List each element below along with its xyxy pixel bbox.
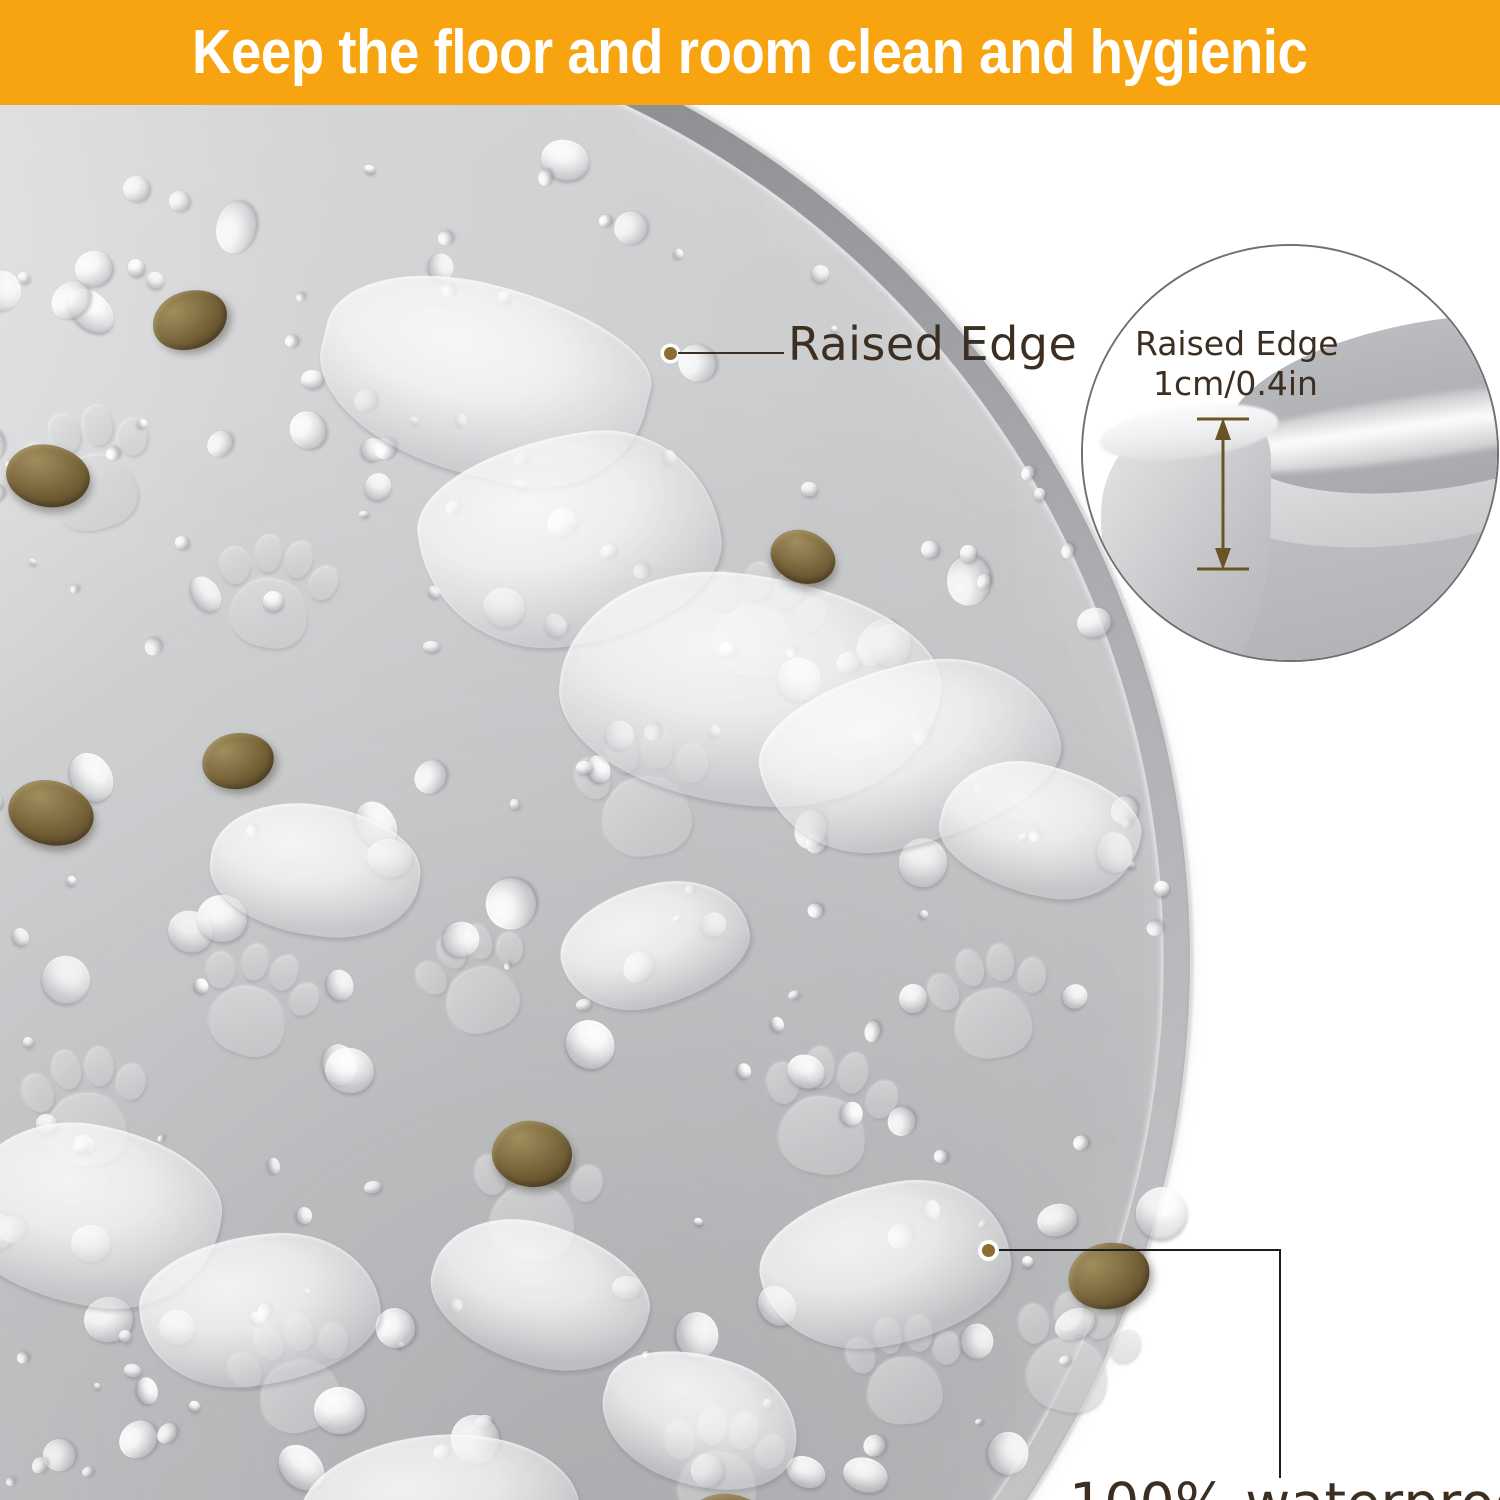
water-droplet — [1119, 816, 1133, 830]
water-droplet — [443, 1407, 507, 1471]
paw-toe — [987, 944, 1016, 982]
water-droplet — [123, 1363, 142, 1378]
water-droplet — [283, 405, 332, 455]
water-droplet — [16, 1351, 30, 1365]
water-droplet — [72, 1140, 89, 1155]
water-droplet — [497, 290, 510, 304]
paw-toe — [860, 1076, 904, 1123]
water-droplet — [801, 828, 829, 856]
paw-pad — [1020, 1332, 1115, 1420]
water-puddle — [745, 636, 1076, 874]
water-droplet — [859, 1430, 889, 1460]
water-droplet — [641, 1349, 652, 1360]
mat-outline — [0, 105, 1193, 1500]
water-droplet — [563, 510, 581, 528]
water-droplet — [735, 1061, 752, 1079]
water-droplet — [1028, 830, 1042, 843]
mat-rim-gloss — [0, 105, 1166, 1500]
waterproof-leader-dot — [982, 1244, 995, 1257]
water-droplet — [70, 1132, 96, 1156]
water-droplet — [618, 946, 659, 988]
paw-toe — [115, 1063, 149, 1103]
water-droplet — [296, 1206, 314, 1225]
water-droplet — [504, 963, 510, 970]
water-puddle — [0, 1104, 234, 1326]
water-droplet — [22, 1035, 34, 1047]
paw-toe — [411, 957, 453, 1000]
mat-shading — [0, 105, 1162, 1500]
water-droplet — [584, 752, 614, 786]
water-droplet — [319, 1041, 360, 1088]
water-puddle — [202, 791, 428, 949]
water-droplet — [673, 247, 685, 259]
water-droplet — [61, 745, 122, 809]
water-droplet — [661, 448, 678, 466]
water-droplet — [1033, 487, 1046, 500]
water-droplet — [450, 1299, 462, 1312]
paw-toe — [842, 1335, 881, 1378]
paw-toe — [498, 933, 524, 965]
water-droplet — [144, 269, 167, 291]
water-droplet — [443, 498, 462, 517]
water-droplet — [1070, 1132, 1090, 1152]
water-droplet — [0, 269, 23, 313]
water-droplet — [363, 1179, 382, 1195]
water-puddle — [585, 1327, 815, 1500]
water-droplet — [1034, 1200, 1081, 1241]
paw-pad — [487, 1183, 577, 1264]
water-droplet — [832, 647, 863, 677]
water-droplet — [809, 262, 833, 286]
paw-pad — [866, 1357, 945, 1427]
paw-pad — [45, 447, 143, 538]
water-droplet — [428, 252, 454, 280]
kibble-piece — [198, 728, 277, 793]
paw-toe — [662, 1421, 697, 1462]
paw-toe — [249, 1320, 289, 1365]
water-droplet — [0, 793, 3, 812]
paw-pad — [708, 600, 802, 687]
water-droplet — [29, 1454, 50, 1476]
paw-print — [216, 1297, 372, 1453]
water-droplet — [112, 1413, 165, 1466]
product-photo: Raised Edge 100% waterproof Raised Edge … — [0, 105, 1500, 1500]
paw-toe — [834, 1051, 873, 1098]
water-droplet — [987, 1431, 1029, 1475]
paw-toe — [304, 563, 344, 605]
water-droplet — [1153, 879, 1172, 898]
raised-edge-leader-line — [678, 352, 784, 354]
paw-toe — [953, 948, 988, 990]
water-droplet — [782, 1048, 830, 1094]
water-droplet — [104, 445, 121, 462]
water-droplet — [671, 337, 723, 389]
waterproof-leader-line-vertical — [1279, 1249, 1281, 1478]
water-puddle — [415, 1197, 665, 1392]
water-droplet — [296, 292, 305, 301]
inset-photo — [1083, 246, 1497, 660]
water-droplet — [840, 1101, 863, 1126]
water-droplet — [303, 1288, 312, 1297]
water-droplet — [162, 903, 220, 959]
water-droplet — [1094, 830, 1134, 875]
water-droplet — [6, 1477, 15, 1486]
water-droplet — [255, 1301, 273, 1322]
water-droplet — [118, 1329, 131, 1342]
inset-dimension-label: Raised Edge 1cm/0.4in — [1135, 324, 1339, 405]
water-droplet — [211, 198, 260, 257]
paw-print — [842, 1309, 966, 1433]
water-droplet — [603, 719, 636, 753]
paw-toe — [283, 1312, 317, 1354]
paw-pad — [225, 573, 314, 655]
kibble-piece — [489, 1117, 575, 1191]
paw-toe — [764, 1062, 801, 1106]
paw-toe — [675, 743, 711, 786]
paw-toe — [727, 1410, 762, 1452]
paw-pad — [252, 1351, 349, 1442]
water-droplet — [80, 1292, 137, 1346]
paw-toe — [219, 547, 251, 586]
mat-raised-edge — [0, 105, 1190, 1500]
paw-toe — [804, 1047, 836, 1089]
water-droplet — [977, 1219, 987, 1229]
paw-print — [920, 933, 1059, 1072]
water-droplet — [556, 1010, 625, 1079]
water-droplet — [347, 794, 405, 855]
water-droplet — [474, 1414, 493, 1429]
water-puddle — [548, 864, 761, 1026]
paw-pad — [774, 1091, 871, 1180]
paw-pad — [675, 1448, 762, 1500]
water-droplet — [885, 1105, 917, 1138]
water-droplet — [185, 571, 228, 617]
water-droplet — [37, 1433, 81, 1477]
water-droplet — [10, 925, 32, 948]
paw-toe — [923, 970, 965, 1015]
water-droplet — [685, 1449, 729, 1493]
water-droplet — [455, 412, 468, 427]
paw-toe — [1017, 957, 1048, 994]
water-droplet — [1050, 1302, 1101, 1347]
water-droplet — [512, 450, 529, 467]
water-droplet — [782, 1450, 831, 1494]
paw-print — [749, 1034, 904, 1189]
water-droplet — [883, 1219, 916, 1253]
water-droplet — [71, 1225, 112, 1263]
inset-bowl-shadow — [1143, 638, 1499, 662]
waterproof-label: 100% waterproof — [1069, 1471, 1500, 1500]
water-droplet — [1057, 1354, 1070, 1366]
water-droplet — [898, 982, 929, 1014]
paw-print — [997, 1278, 1150, 1431]
paw-toe — [1081, 1298, 1120, 1343]
water-droplet — [313, 1385, 367, 1436]
kibble-piece — [2, 772, 101, 855]
paw-toe — [905, 1316, 932, 1352]
headline-banner: Keep the floor and room clean and hygien… — [0, 0, 1500, 105]
water-droplet — [188, 1399, 202, 1413]
water-droplet — [144, 638, 160, 655]
paw-print — [567, 716, 721, 870]
paw-toe — [81, 405, 115, 448]
water-droplet — [791, 807, 831, 852]
water-droplet — [946, 555, 992, 607]
water-droplet — [128, 259, 145, 276]
water-droplet — [195, 893, 251, 946]
water-droplet — [409, 415, 420, 425]
water-puddle — [133, 1223, 387, 1397]
water-droplet — [932, 1148, 950, 1166]
paw-print — [16, 1039, 154, 1177]
water-droplet — [93, 1382, 101, 1390]
water-droplet — [300, 369, 324, 389]
paw-toe — [541, 1140, 577, 1184]
water-droplet — [1018, 833, 1028, 841]
paw-toe — [281, 539, 317, 581]
water-droplet — [245, 823, 256, 836]
paw-toe — [238, 943, 272, 984]
water-droplet — [974, 1418, 983, 1426]
water-droplet — [426, 584, 442, 600]
water-droplet — [975, 572, 992, 591]
water-droplet — [892, 831, 954, 894]
water-droplet — [806, 901, 825, 919]
paw-toe — [932, 1330, 965, 1368]
water-droplet — [408, 755, 452, 800]
paw-toe — [86, 1048, 114, 1086]
water-droplet — [202, 426, 237, 462]
water-droplet — [350, 385, 381, 416]
water-droplet — [598, 542, 618, 561]
water-puddle — [748, 1165, 1022, 1366]
paw-toe — [16, 1071, 59, 1118]
paw-pad — [438, 958, 527, 1041]
water-droplet — [768, 648, 830, 710]
water-droplet — [44, 274, 97, 327]
pet-food-mat — [0, 105, 1190, 1500]
water-droplet — [359, 511, 368, 518]
paw-print — [203, 522, 345, 664]
water-droplet — [718, 641, 736, 658]
water-droplet — [607, 205, 653, 251]
paw-toe — [791, 595, 832, 638]
water-droplet — [69, 584, 78, 594]
raised-edge-detail-inset: Raised Edge 1cm/0.4in — [1081, 244, 1499, 662]
water-droplet — [477, 582, 529, 633]
water-droplet — [437, 229, 455, 247]
water-droplet — [137, 418, 148, 430]
water-droplet — [541, 609, 571, 640]
water-droplet — [364, 835, 415, 881]
water-droplet — [693, 1216, 704, 1226]
water-droplet — [961, 1323, 994, 1358]
water-droplet — [192, 976, 210, 995]
water-droplet — [557, 619, 569, 631]
kibble-piece — [145, 281, 235, 360]
water-droplet — [1147, 920, 1163, 936]
water-droplet — [60, 281, 122, 342]
paw-toe — [699, 1408, 727, 1446]
water-droplet — [483, 876, 538, 933]
paw-toe — [15, 438, 62, 488]
inset-label-line-2: 1cm/0.4in — [1135, 364, 1339, 404]
water-droplet — [18, 272, 30, 284]
water-droplet — [65, 874, 78, 887]
water-droplet — [863, 1020, 882, 1043]
water-droplet — [514, 479, 527, 490]
water-droplet — [750, 1279, 804, 1334]
water-droplet — [1105, 1296, 1113, 1304]
paw-print — [652, 1397, 790, 1500]
water-droplet — [612, 1276, 642, 1299]
water-droplet — [248, 1309, 267, 1328]
water-droplet — [173, 533, 191, 551]
water-droplet — [1019, 464, 1037, 483]
water-droplet — [423, 641, 439, 653]
paw-toe — [873, 1317, 904, 1356]
mat-surface — [0, 105, 1190, 1500]
paw-toe — [742, 562, 775, 603]
water-droplet — [320, 1043, 379, 1099]
water-droplet — [1060, 543, 1074, 560]
water-droplet — [537, 168, 552, 185]
paw-print — [10, 391, 168, 549]
water-droplet — [119, 171, 153, 204]
paw-toe — [604, 730, 643, 777]
product-feature-image: Keep the floor and room clean and hygien… — [0, 0, 1500, 1500]
raised-edge-label: Raised Edge — [788, 317, 1077, 371]
paw-toe — [206, 953, 236, 989]
water-droplet — [960, 544, 976, 561]
water-droplet — [153, 1420, 180, 1447]
water-puddle — [929, 746, 1152, 915]
paw-toe — [751, 1432, 790, 1474]
headline-text: Keep the floor and room clean and hygien… — [192, 22, 1307, 84]
water-droplet — [156, 1307, 197, 1348]
water-droplet — [762, 1398, 772, 1408]
water-droplet — [575, 997, 592, 1011]
paw-toe — [1053, 1292, 1086, 1333]
paw-toe — [254, 535, 284, 574]
water-droplet — [282, 333, 299, 350]
paw-toe — [320, 1324, 347, 1359]
water-droplet — [0, 1210, 17, 1253]
paw-toe — [709, 573, 740, 611]
water-droplet — [363, 163, 376, 173]
water-droplet — [1020, 1254, 1034, 1268]
water-droplet — [34, 1113, 58, 1136]
water-droplet — [0, 482, 6, 504]
paw-toe — [284, 979, 325, 1021]
water-droplet — [32, 946, 99, 1013]
paw-toe — [50, 1049, 85, 1092]
water-droplet — [918, 538, 941, 561]
water-droplet — [923, 1199, 941, 1221]
water-droplet — [29, 558, 38, 566]
paw-toe — [118, 418, 149, 456]
water-droplet — [440, 283, 456, 299]
paw-print — [179, 926, 330, 1077]
water-droplet — [359, 468, 396, 505]
water-droplet — [672, 914, 680, 921]
kibble-piece — [1062, 1235, 1156, 1317]
water-droplet — [260, 589, 284, 614]
water-droplet — [1107, 792, 1141, 828]
paw-toe — [567, 1162, 608, 1207]
water-droplet — [134, 1375, 160, 1406]
water-droplet — [707, 723, 722, 739]
kibble-piece — [1, 438, 94, 514]
water-droplet — [1127, 1178, 1196, 1248]
water-droplet — [786, 647, 796, 658]
water-droplet — [1074, 604, 1114, 642]
paw-print — [404, 909, 548, 1053]
water-droplet — [70, 247, 116, 292]
paw-toe — [1017, 1305, 1050, 1345]
waterproof-leader-line-horizontal — [996, 1249, 1281, 1251]
water-puddle — [300, 248, 666, 512]
paw-pad — [950, 985, 1037, 1065]
water-droplet — [266, 1157, 280, 1175]
water-droplet — [576, 761, 593, 775]
water-droplet — [1058, 979, 1093, 1014]
water-droplet — [698, 910, 729, 941]
water-droplet — [270, 1436, 333, 1500]
water-droplet — [156, 1134, 164, 1142]
water-droplet — [801, 481, 818, 496]
kibble-piece — [763, 521, 844, 594]
water-puddle — [295, 1425, 585, 1500]
water-puddle — [549, 556, 951, 824]
paw-toe — [511, 1139, 540, 1178]
water-droplet — [868, 623, 913, 668]
water-droplet — [431, 1441, 452, 1461]
paw-toe — [45, 411, 85, 457]
paw-pad — [201, 978, 295, 1066]
water-droplet — [396, 1340, 405, 1349]
water-droplet — [165, 187, 192, 214]
water-droplet — [4, 460, 14, 470]
dimension-arrow-icon — [1191, 414, 1255, 574]
paw-toe — [434, 932, 471, 973]
water-droplet — [359, 435, 388, 464]
paw-toe — [223, 1347, 269, 1395]
water-droplet — [509, 798, 519, 808]
paw-toe — [471, 1153, 510, 1198]
water-droplet — [542, 502, 582, 542]
water-droplet — [80, 1464, 94, 1478]
paw-toe — [569, 754, 616, 805]
water-droplet — [536, 135, 593, 186]
water-droplet — [368, 1300, 423, 1355]
inset-label-line-1: Raised Edge — [1135, 324, 1339, 363]
water-droplet — [372, 434, 399, 462]
paw-print — [686, 547, 837, 698]
paw-toe — [265, 952, 304, 995]
water-droplet — [918, 909, 929, 920]
water-droplet — [769, 1015, 786, 1034]
water-droplet — [848, 610, 909, 674]
water-droplet — [787, 989, 800, 1001]
paw-print — [464, 1129, 607, 1272]
paw-toe — [643, 728, 674, 770]
water-droplet — [912, 726, 930, 745]
kibble-piece — [678, 1484, 785, 1500]
paw-toe — [770, 569, 809, 613]
water-droplet — [0, 1211, 30, 1246]
water-droplet — [971, 785, 981, 795]
